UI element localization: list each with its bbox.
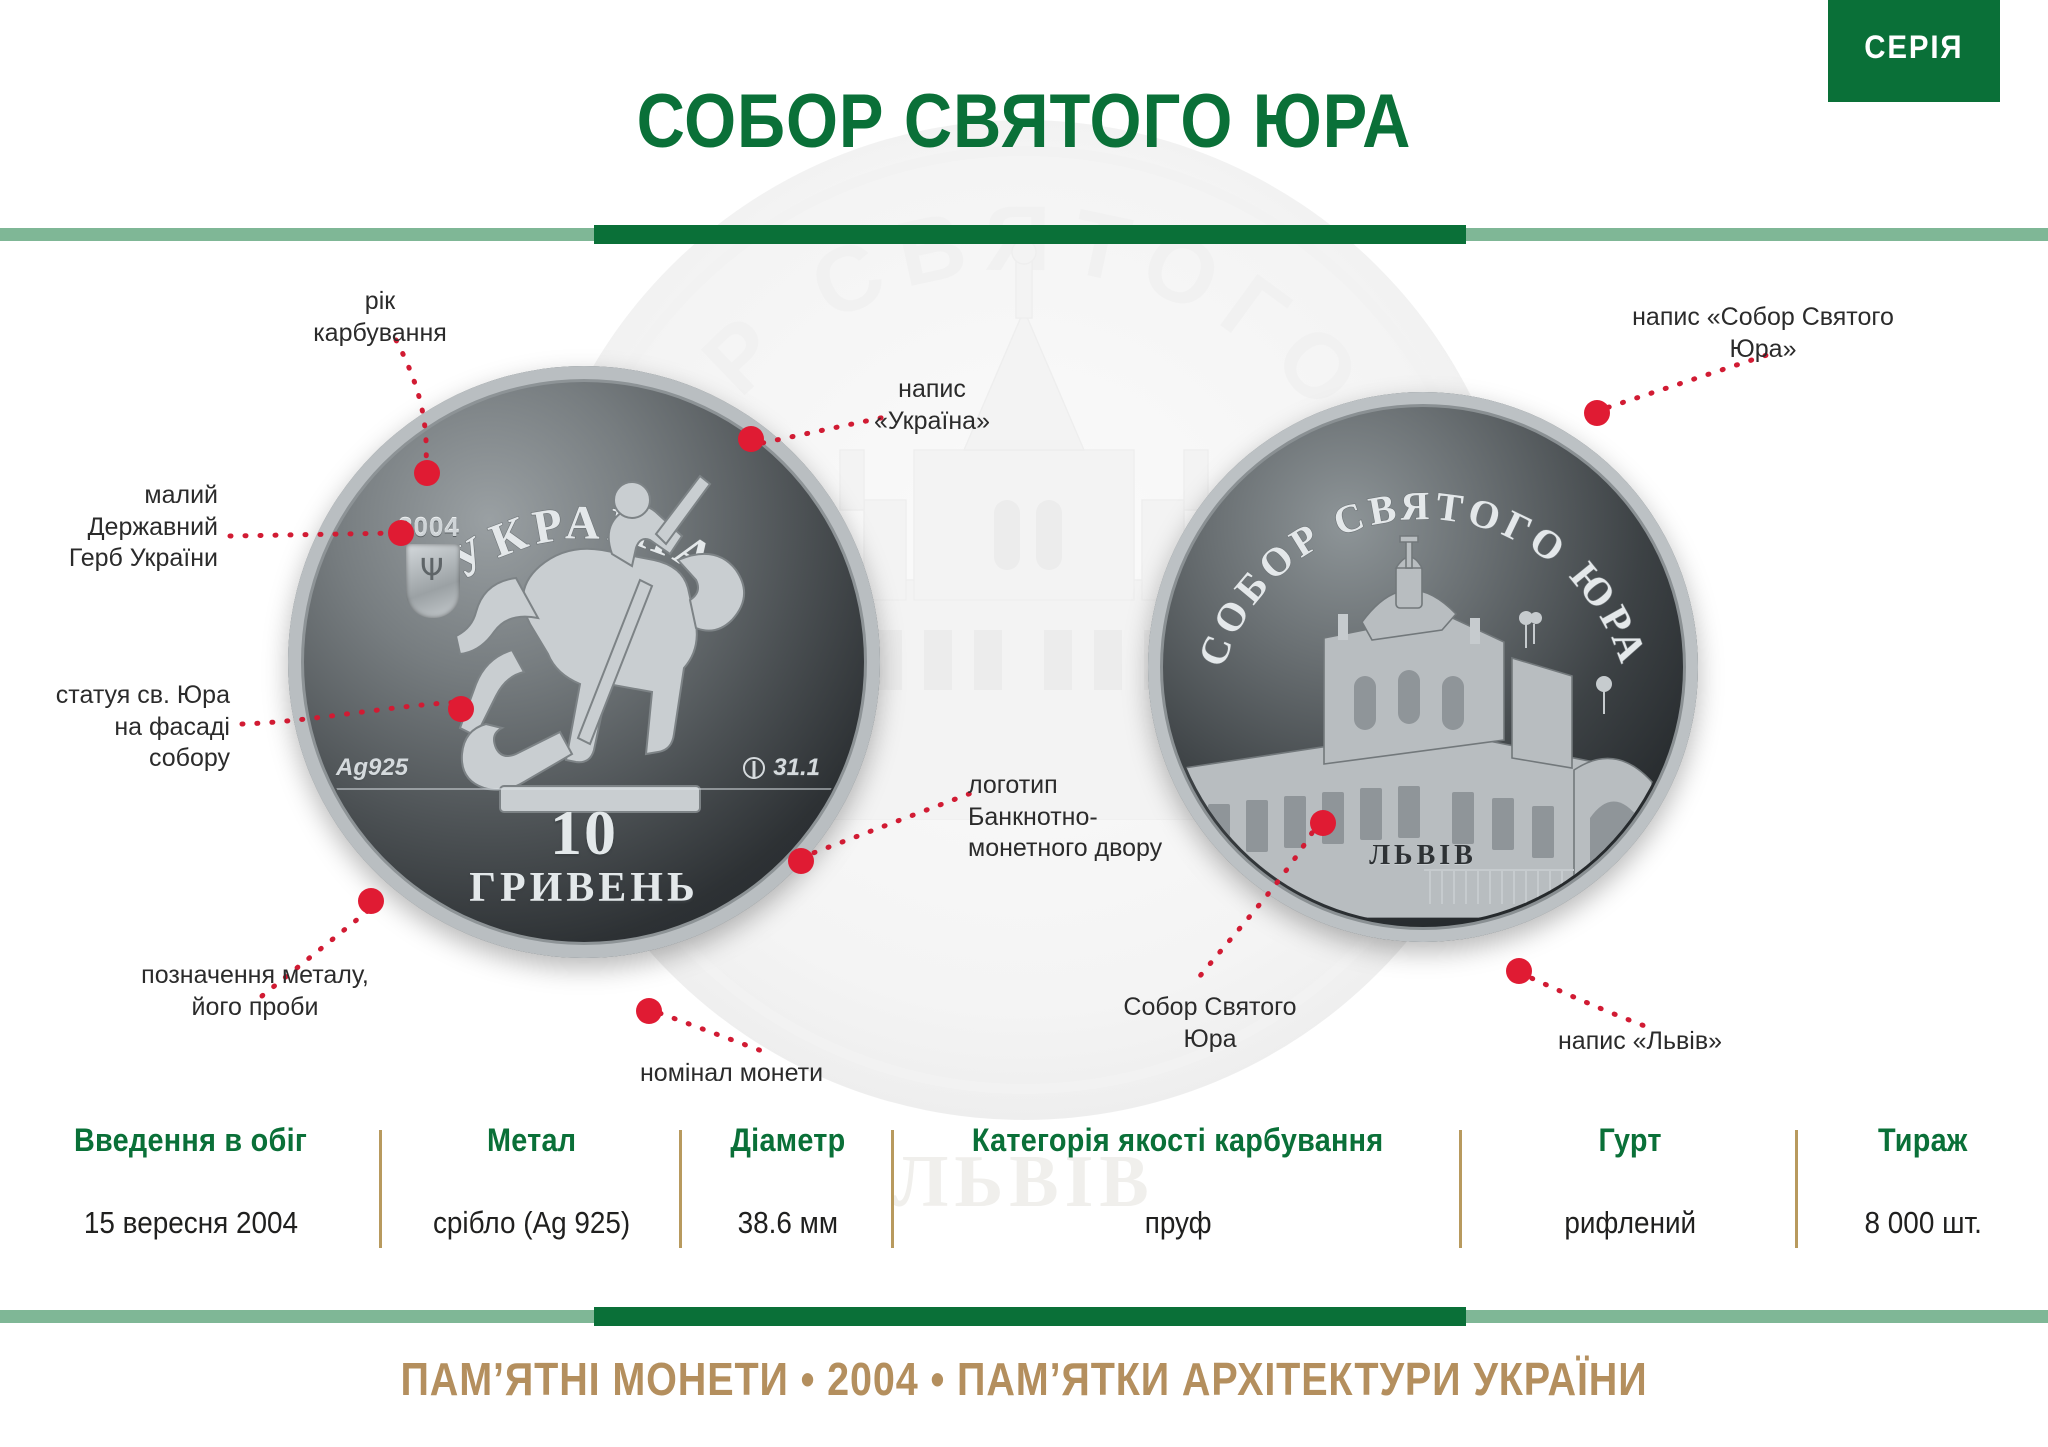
- spec-col-issue-date: Введення в обіг 15 вересня 2004: [0, 1122, 382, 1241]
- spec-header-issue-date: Введення в обіг: [74, 1122, 307, 1159]
- mint-logo-icon: [743, 757, 765, 779]
- divider-bottom-core: [594, 1307, 1466, 1326]
- coin-weight-value: 31.1: [773, 754, 820, 782]
- coin-denomination-rule: [312, 788, 856, 790]
- callout-dot-ukraine: [738, 426, 764, 452]
- st-george-statue-illustration: [426, 442, 756, 842]
- footer: ПАМ’ЯТНІ МОНЕТИ • 2004 • ПАМ’ЯТКИ АРХІТЕ…: [0, 1352, 2048, 1406]
- coin-denomination-unit: ГРИВЕНЬ: [306, 864, 862, 912]
- coin-obverse-face: УКРАЇНА 2004 Ψ: [306, 384, 862, 940]
- callout-label-year: рік карбування: [280, 286, 480, 349]
- spec-value-issue-date: 15 вересня 2004: [84, 1205, 298, 1241]
- spec-header-edge: Гурт: [1598, 1122, 1661, 1159]
- spec-value-diameter: 38.6 мм: [738, 1205, 838, 1241]
- spec-col-quality: Категорія якості карбування пруф: [894, 1122, 1462, 1241]
- callout-label-ukraine: напис «Україна»: [842, 374, 1022, 437]
- callout-dot-lviv: [1506, 958, 1532, 984]
- coin-reverse-face: СОБОР СВЯТОГО ЮРА: [1166, 410, 1680, 924]
- spec-value-quality: пруф: [1145, 1205, 1212, 1241]
- coin-denomination: 10 ГРИВЕНЬ: [306, 803, 862, 912]
- callout-dot-statue: [448, 696, 474, 722]
- spec-header-metal: Метал: [487, 1122, 576, 1159]
- spec-col-diameter: Діаметр 38.6 мм: [682, 1122, 894, 1241]
- coin-weight-and-mint: 31.1: [743, 754, 820, 782]
- callout-dot-denom: [636, 998, 662, 1024]
- spec-col-edge: Гурт рифлений: [1462, 1122, 1798, 1241]
- spec-header-mintage: Тираж: [1878, 1122, 1968, 1159]
- callout-label-cathedral: напис «Собор Святого Юра»: [1598, 302, 1928, 365]
- page-title: СОБОР СВЯТОГО ЮРА: [123, 78, 1925, 165]
- spec-col-mintage: Тираж 8 000 шт.: [1798, 1122, 2048, 1241]
- callout-label-statue: статуя св. Юра на фасаді собору: [24, 680, 230, 775]
- callout-label-emblem: малий Державний Герб України: [18, 480, 218, 575]
- divider-bottom: [0, 1310, 2048, 1323]
- header: СОБОР СВЯТОГО ЮРА СЕРІЯ: [0, 0, 2048, 222]
- callout-label-church: Собор Святого Юра: [1100, 992, 1320, 1055]
- footer-text: ПАМ’ЯТНІ МОНЕТИ • 2004 • ПАМ’ЯТКИ АРХІТЕ…: [400, 1352, 1647, 1406]
- spec-value-mintage: 8 000 шт.: [1864, 1205, 1981, 1241]
- callout-label-metal: позначення металу, його проби: [110, 960, 400, 1023]
- coin-reverse: СОБОР СВЯТОГО ЮРА: [1148, 392, 1698, 942]
- series-badge: СЕРІЯ: [1828, 0, 2000, 102]
- spec-col-metal: Метал срібло (Ag 925): [382, 1122, 682, 1241]
- callout-label-lviv: напис «Львів»: [1558, 1026, 1818, 1058]
- spec-header-diameter: Діаметр: [730, 1122, 845, 1159]
- infographic-page: СОБОР СВЯТОГО ЮРА ЛЬВІВ СОБОР СВЯТОГО Ю: [0, 0, 2048, 1447]
- divider-top-core: [594, 225, 1466, 244]
- coin-metal-fineness: Ag925: [336, 754, 408, 782]
- divider-top: [0, 228, 2048, 241]
- series-badge-label: СЕРІЯ: [1864, 29, 1963, 66]
- callout-label-denom: номінал монети: [640, 1058, 900, 1090]
- callout-dot-metal: [358, 888, 384, 914]
- callout-dot-emblem: [388, 520, 414, 546]
- callout-dot-mint: [788, 848, 814, 874]
- spec-value-metal: срібло (Ag 925): [433, 1205, 630, 1241]
- callout-dot-cathedral: [1584, 400, 1610, 426]
- coin-denomination-value: 10: [306, 803, 862, 864]
- callout-dot-church: [1310, 810, 1336, 836]
- spec-value-edge: рифлений: [1564, 1205, 1696, 1241]
- callout-dot-year: [414, 460, 440, 486]
- coin-city-inscription: ЛЬВІВ: [1166, 840, 1680, 872]
- callout-label-mint: логотип Банкнотно- монетного двору: [968, 770, 1228, 865]
- spec-header-quality: Категорія якості карбування: [972, 1122, 1384, 1159]
- spec-table: Введення в обіг 15 вересня 2004 Метал ср…: [0, 1122, 2048, 1282]
